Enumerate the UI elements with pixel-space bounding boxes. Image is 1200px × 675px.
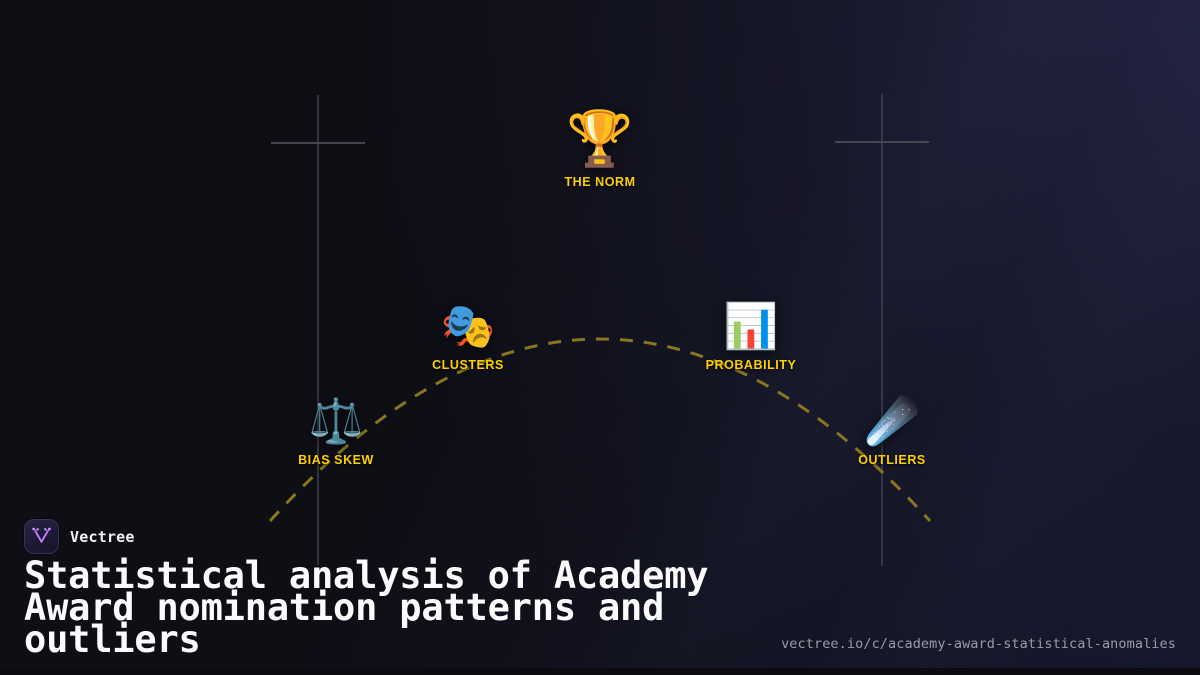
balance-scale-icon: ⚖️ [236, 400, 436, 444]
node-label-the-norm: THE NORM [500, 175, 700, 189]
node-label-bias-skew: BIAS SKEW [236, 453, 436, 467]
node-label-clusters: CLUSTERS [368, 358, 568, 372]
bar-chart-icon: 📊 [651, 305, 851, 349]
node-clusters[interactable]: 🎭 CLUSTERS [368, 305, 568, 372]
brand-lockup[interactable]: Vectree [24, 519, 135, 554]
page-title: Statistical analysis of Academy Award no… [24, 560, 764, 656]
trophy-icon: 🏆 [500, 112, 700, 166]
footer: Vectree Statistical analysis of Academy … [0, 503, 1200, 675]
node-label-outliers: OUTLIERS [792, 453, 992, 467]
node-probability[interactable]: 📊 PROBABILITY [651, 305, 851, 372]
brand-name: Vectree [70, 528, 135, 546]
node-outliers[interactable]: ☄️ OUTLIERS [792, 400, 992, 467]
node-bias-skew[interactable]: ⚖️ BIAS SKEW [236, 400, 436, 467]
source-url: vectree.io/c/academy-award-statistical-a… [781, 636, 1176, 652]
crosshair-left [271, 95, 365, 565]
bottom-rule [0, 668, 1200, 675]
node-the-norm[interactable]: 🏆 THE NORM [500, 112, 700, 189]
node-label-probability: PROBABILITY [651, 358, 851, 372]
poster-canvas: 🏆 THE NORM 🎭 CLUSTERS 📊 PROBABILITY ⚖️ B… [0, 0, 1200, 675]
theater-masks-icon: 🎭 [368, 305, 568, 349]
vectree-v-logo-icon [24, 519, 59, 554]
vectree-glyph [31, 526, 52, 547]
comet-icon: ☄️ [792, 400, 992, 444]
